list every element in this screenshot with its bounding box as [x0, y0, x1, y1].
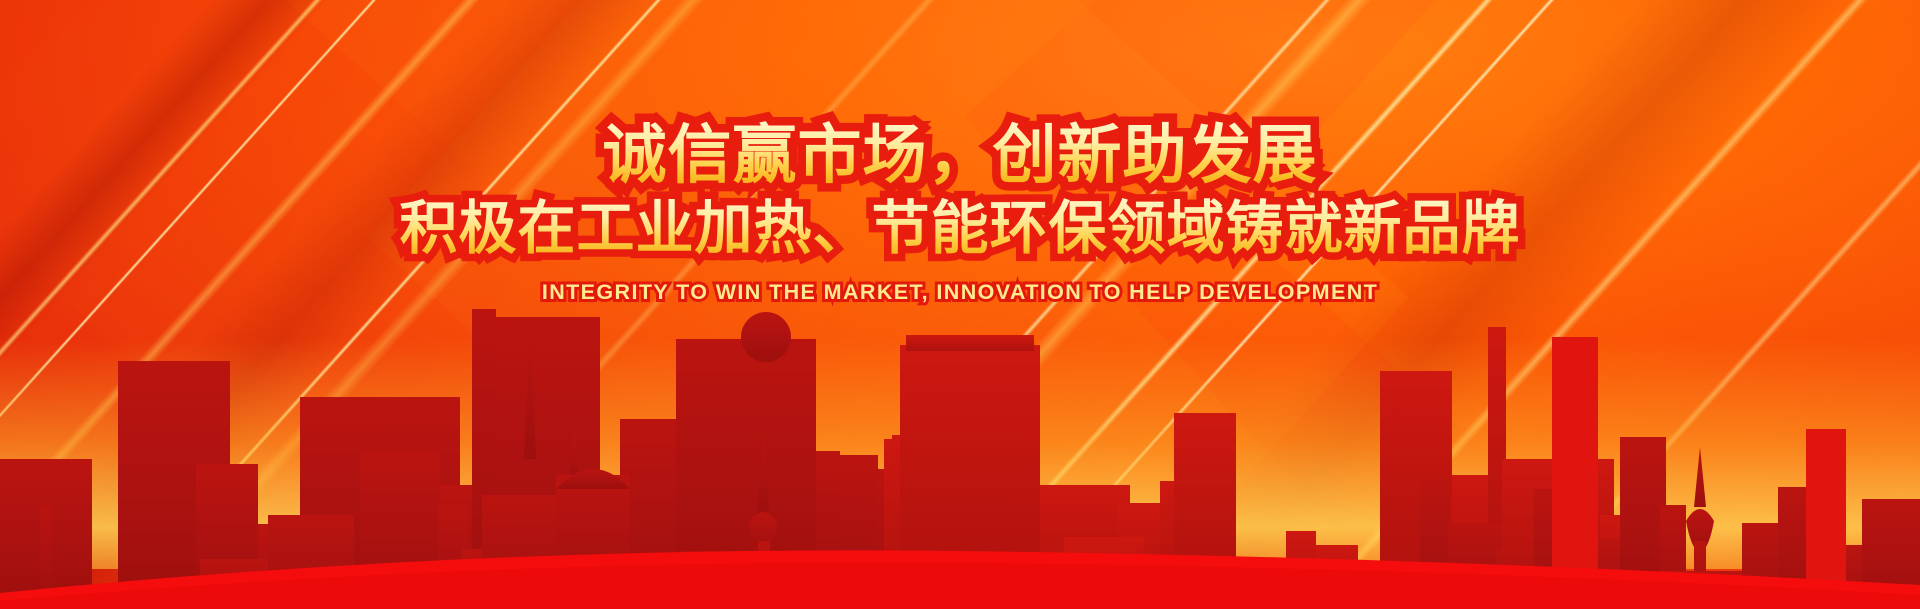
subtitle-text: INTEGRITY TO WIN THE MARKET, INNOVATION …: [542, 280, 1378, 304]
headline-line-1: 诚信赢市场，创新助发展 诚信赢市场，创新助发展 诚信赢市场，创新助发展: [603, 118, 1318, 192]
headline-line-2: 积极在工业加热、节能环保领域铸就新品牌 积极在工业加热、节能环保领域铸就新品牌 …: [399, 194, 1520, 264]
hero-banner: 诚信赢市场，创新助发展 诚信赢市场，创新助发展 诚信赢市场，创新助发展 积极在工…: [0, 0, 1920, 609]
headline-line-1-text: 诚信赢市场，创新助发展: [603, 119, 1318, 191]
subtitle-english: INTEGRITY TO WIN THE MARKET, INNOVATION …: [542, 280, 1378, 305]
headline-block: 诚信赢市场，创新助发展 诚信赢市场，创新助发展 诚信赢市场，创新助发展 积极在工…: [0, 118, 1920, 305]
headline-line-2-text: 积极在工业加热、节能环保领域铸就新品牌: [399, 196, 1520, 261]
red-ground-curve: [0, 539, 1920, 609]
